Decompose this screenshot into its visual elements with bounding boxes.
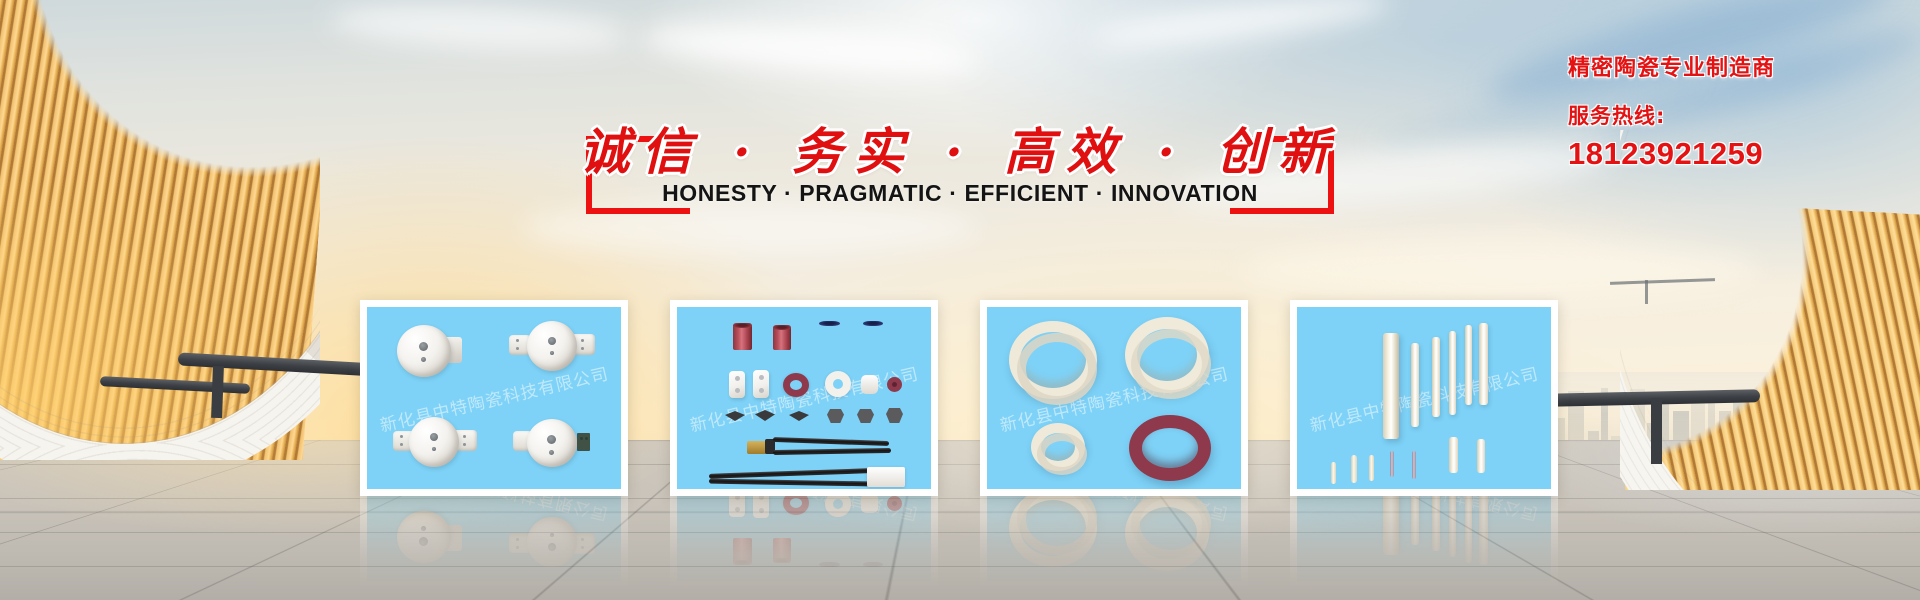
ceramic-ring-white: [825, 371, 851, 397]
promotional-banner: 新化县中特陶瓷科技有限公司: [0, 0, 1920, 600]
ceramic-pin: [1449, 437, 1458, 473]
ceramic-tube-red: [773, 538, 791, 563]
ceramic-tube-blue: [863, 321, 883, 350]
watermark-text: 新化县中特陶瓷科技有限公司: [1307, 496, 1541, 528]
ceramic-plate: [729, 496, 745, 517]
product-photo: 新化县中特陶瓷科技有限公司: [367, 307, 621, 489]
product-panel-rods[interactable]: 新化县中特陶瓷科技有限公司: [1290, 300, 1558, 496]
ceramic-plate: [729, 371, 745, 398]
ceramic-tube-red: [733, 538, 752, 565]
ceramic-ring-large-shade: [1131, 329, 1211, 399]
product-photo: 新化县中特陶瓷科技有限公司: [987, 496, 1241, 581]
product-photo: 新化县中特陶瓷科技有限公司: [677, 307, 931, 489]
product-panel-components[interactable]: 新化县中特陶瓷科技有限公司: [670, 300, 938, 496]
watermark-text: 新化县中特陶瓷科技有限公司: [1307, 360, 1541, 437]
metal-clip: [857, 409, 874, 423]
ceramic-rod: [1465, 325, 1472, 405]
ceramic-pin-grey: [1390, 451, 1394, 477]
lamp-holder: [509, 321, 595, 371]
metal-clip: [886, 408, 903, 423]
ceramic-pin-grey: [1412, 451, 1416, 479]
handrail-post-thin: [1645, 280, 1648, 304]
ceramic-ring-maroon: [783, 496, 809, 515]
railing-post-left: [211, 366, 224, 418]
lamp-holder: [393, 417, 477, 467]
black-wire: [773, 448, 891, 455]
metal-contact: [755, 410, 775, 421]
ceramic-tube-red: [733, 323, 752, 350]
ceramic-ring-white: [825, 496, 851, 517]
ceramic-rod: [1479, 323, 1488, 405]
product-panel-components[interactable]: 新化县中特陶瓷科技有限公司: [670, 496, 938, 588]
ceramic-ring-small-shade: [1037, 433, 1087, 475]
metal-contact: [789, 411, 809, 421]
product-panel-rods[interactable]: 新化县中特陶瓷科技有限公司: [1290, 496, 1558, 588]
ceramic-ring-small: [887, 377, 902, 392]
cloud-wisp: [329, 0, 631, 56]
ceramic-rod: [1432, 496, 1440, 551]
ceramic-pin: [1331, 462, 1336, 484]
ceramic-plate: [753, 370, 769, 398]
hotline-phone-number[interactable]: 18123921259: [1568, 136, 1908, 172]
ceramic-rod: [1411, 496, 1419, 545]
panel-reflection: 新化县中特陶瓷科技有限公司: [980, 496, 1248, 592]
railing-post-right: [1651, 398, 1662, 464]
ceramic-rod: [1449, 331, 1456, 415]
ceramic-rod: [1383, 496, 1399, 555]
contact-block: 精密陶瓷专业制造商 服务热线: 18123921259: [1568, 50, 1908, 172]
ceramic-rod: [1383, 333, 1399, 439]
metal-clip: [827, 409, 844, 423]
ceramic-ring-maroon: [783, 373, 809, 397]
company-tagline: 精密陶瓷专业制造商: [1568, 50, 1908, 82]
black-wire: [709, 479, 871, 487]
metal-contact: [725, 411, 745, 421]
lamp-holder: [397, 511, 463, 563]
product-photo: 新化县中特陶瓷科技有限公司: [1297, 307, 1551, 489]
lamp-holder: [509, 517, 595, 567]
white-connector: [867, 467, 905, 487]
black-wire: [709, 468, 869, 479]
ceramic-pin: [1369, 455, 1374, 481]
ceramic-ring-large-shade: [1017, 333, 1097, 405]
ceramic-pin: [1351, 455, 1357, 483]
ceramic-ring-small: [887, 496, 902, 511]
ceramic-tube-blue: [863, 538, 883, 567]
ceramic-tube-red: [773, 325, 791, 350]
ceramic-pin: [1477, 439, 1485, 473]
ceramic-rod: [1449, 496, 1456, 557]
slogan-english: HONESTY · PRAGMATIC · EFFICIENT · INNOVA…: [0, 180, 1920, 207]
product-photo: 新化县中特陶瓷科技有限公司: [677, 496, 931, 581]
ceramic-tube-blue: [819, 321, 840, 351]
ceramic-cap: [861, 375, 878, 394]
lamp-holder: [513, 419, 597, 467]
product-photo: 新化县中特陶瓷科技有限公司: [367, 496, 621, 581]
ceramic-plate: [753, 496, 769, 518]
ceramic-tube-blue: [819, 537, 840, 567]
product-panel-lamp-holders[interactable]: 新化县中特陶瓷科技有限公司: [360, 496, 628, 588]
product-photo: 新化县中特陶瓷科技有限公司: [987, 307, 1241, 489]
ceramic-cap: [861, 496, 878, 513]
panel-reflection: 新化县中特陶瓷科技有限公司: [670, 496, 938, 592]
panel-reflection: 新化县中特陶瓷科技有限公司: [360, 496, 628, 592]
black-wire: [773, 437, 889, 446]
lamp-holder: [397, 325, 463, 377]
ceramic-rod: [1479, 496, 1488, 565]
cloud-wisp: [1089, 0, 1391, 56]
panel-reflection: 新化县中特陶瓷科技有限公司: [1290, 496, 1558, 592]
ceramic-rod: [1465, 496, 1472, 563]
product-panel-rings[interactable]: 新化县中特陶瓷科技有限公司: [980, 496, 1248, 588]
hotline-label: 服务热线:: [1568, 100, 1908, 130]
product-panel-lamp-holders[interactable]: 新化县中特陶瓷科技有限公司: [360, 300, 628, 496]
product-photo: 新化县中特陶瓷科技有限公司: [1297, 496, 1551, 581]
product-panel-rings[interactable]: 新化县中特陶瓷科技有限公司: [980, 300, 1248, 496]
ceramic-ring-maroon: [1129, 415, 1211, 481]
ceramic-rod: [1432, 337, 1440, 417]
ceramic-rod: [1411, 343, 1419, 427]
watermark-text: 新化县中特陶瓷科技有限公司: [687, 360, 921, 437]
cloud-wisp: [639, 14, 981, 84]
